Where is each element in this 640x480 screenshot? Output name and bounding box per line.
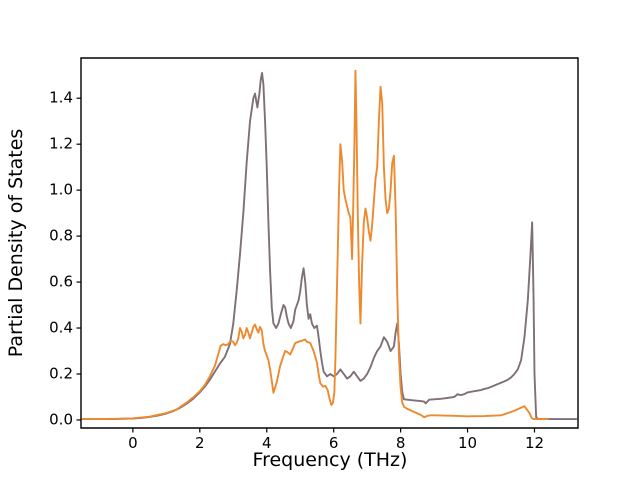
x-tick-label: 12	[525, 434, 544, 452]
y-tick-label: 0.6	[49, 273, 73, 291]
plot-background	[0, 0, 640, 480]
y-tick-label: 0.2	[49, 364, 73, 382]
x-tick-label: 0	[128, 434, 138, 452]
partial-dos-chart: 024681012 0.00.20.40.60.81.01.21.4 Frequ…	[0, 0, 640, 480]
x-axis-title: Frequency (THz)	[253, 449, 408, 471]
x-tick-label: 10	[458, 434, 477, 452]
y-tick-label: 1.2	[49, 135, 73, 153]
y-tick-label: 0.4	[49, 319, 73, 337]
figure-canvas: 024681012 0.00.20.40.60.81.01.21.4 Frequ…	[0, 0, 640, 480]
y-tick-label: 1.4	[49, 89, 73, 107]
y-tick-label: 1.0	[49, 181, 73, 199]
y-tick-label: 0.0	[49, 410, 73, 428]
y-axis-title: Partial Density of States	[5, 129, 27, 358]
y-tick-label: 0.8	[49, 227, 73, 245]
x-tick-label: 2	[195, 434, 205, 452]
